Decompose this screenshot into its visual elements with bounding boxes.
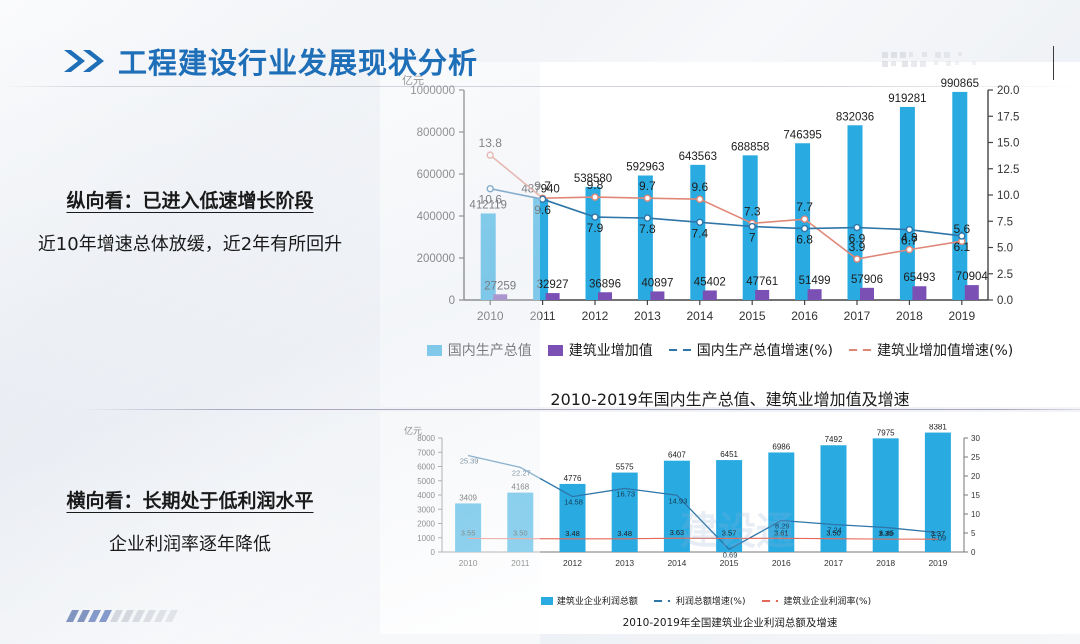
svg-text:2018: 2018 bbox=[896, 309, 923, 323]
svg-text:27259: 27259 bbox=[484, 280, 516, 292]
svg-text:990865: 990865 bbox=[941, 78, 979, 90]
svg-text:0: 0 bbox=[431, 548, 436, 557]
svg-text:643563: 643563 bbox=[679, 151, 717, 163]
top-chart-plot: 020000040000060000080000010000000.02.55.… bbox=[392, 72, 1064, 382]
svg-text:6.7: 6.7 bbox=[901, 234, 918, 248]
mid-divider bbox=[80, 409, 1080, 410]
svg-text:2010: 2010 bbox=[477, 309, 504, 323]
svg-text:7.5: 7.5 bbox=[997, 216, 1013, 228]
svg-text:2014: 2014 bbox=[667, 558, 686, 568]
svg-text:9.6: 9.6 bbox=[534, 203, 551, 217]
bottom-chart-legend: 建筑业企业利润总额利润总额增速(%)建筑业企业利润率(%) bbox=[396, 594, 1032, 607]
svg-text:3.37: 3.37 bbox=[931, 529, 946, 538]
svg-text:8381: 8381 bbox=[929, 424, 947, 432]
legend-item-0[interactable]: 建筑业企业利润总额 bbox=[541, 594, 638, 607]
svg-text:3.50: 3.50 bbox=[513, 529, 528, 538]
svg-text:2017: 2017 bbox=[844, 309, 871, 323]
svg-text:5000: 5000 bbox=[417, 477, 435, 486]
svg-text:13.8: 13.8 bbox=[479, 136, 503, 150]
svg-text:2011: 2011 bbox=[530, 309, 556, 323]
svg-text:45402: 45402 bbox=[694, 276, 726, 288]
legend-label-2: 国内生产总值增速(%) bbox=[697, 340, 833, 360]
svg-text:9.7: 9.7 bbox=[534, 179, 551, 193]
dotted-grid-decoration bbox=[882, 52, 1002, 68]
horizontal-heading: 横向看：长期处于低利润水平 bbox=[0, 486, 380, 513]
svg-text:25: 25 bbox=[971, 453, 980, 462]
page-title: 工程建设行业发展现状分析 bbox=[118, 40, 478, 82]
svg-text:3.50: 3.50 bbox=[826, 529, 841, 538]
svg-text:5.0: 5.0 bbox=[997, 243, 1013, 255]
legend-label-0: 国内生产总值 bbox=[448, 340, 532, 360]
svg-text:9.7: 9.7 bbox=[639, 179, 656, 193]
legend-item-1[interactable]: 建筑业增加值 bbox=[548, 340, 653, 360]
svg-text:4168: 4168 bbox=[511, 483, 529, 492]
svg-text:2015: 2015 bbox=[739, 309, 766, 323]
svg-text:832036: 832036 bbox=[836, 111, 874, 123]
header-divider bbox=[0, 86, 1080, 87]
svg-text:2016: 2016 bbox=[772, 558, 791, 568]
svg-text:47761: 47761 bbox=[746, 276, 778, 288]
svg-text:5: 5 bbox=[971, 529, 976, 538]
svg-text:2013: 2013 bbox=[615, 558, 634, 568]
bottom-chart-plot: 0100020003000400050006000700080000510152… bbox=[396, 424, 1032, 584]
svg-text:919281: 919281 bbox=[888, 93, 926, 105]
svg-text:40897: 40897 bbox=[641, 277, 673, 289]
slide-canvas: 工程建设行业发展现状分析 纵向看：已进入低速增长阶段 近10年增速总体放缓，近2… bbox=[0, 0, 1080, 644]
legend-line-2 bbox=[762, 600, 778, 602]
left-block-horizontal: 横向看：长期处于低利润水平 企业利润率逐年降低 bbox=[0, 486, 380, 556]
legend-label-1: 建筑业增加值 bbox=[569, 340, 653, 360]
svg-text:2014: 2014 bbox=[686, 309, 713, 323]
svg-text:688858: 688858 bbox=[731, 141, 769, 153]
legend-item-2[interactable]: 国内生产总值增速(%) bbox=[669, 340, 833, 360]
legend-item-3[interactable]: 建筑业增加值增速(%) bbox=[849, 340, 1013, 360]
svg-text:32927: 32927 bbox=[537, 279, 569, 291]
svg-text:400000: 400000 bbox=[417, 211, 455, 223]
svg-text:14.93: 14.93 bbox=[669, 496, 688, 505]
legend-label-0: 建筑业企业利润总额 bbox=[557, 594, 638, 607]
svg-text:2015: 2015 bbox=[720, 558, 739, 568]
svg-text:2011: 2011 bbox=[511, 558, 530, 568]
svg-text:1000: 1000 bbox=[417, 534, 435, 543]
top-chart-caption: 2010-2019年国内生产总值、建筑业增加值及增速 bbox=[380, 386, 1080, 410]
svg-text:20: 20 bbox=[971, 472, 980, 481]
diagonal-stripes-decoration bbox=[62, 610, 180, 622]
legend-label-2: 建筑业企业利润率(%) bbox=[784, 594, 872, 607]
svg-text:17.5: 17.5 bbox=[997, 111, 1019, 123]
legend-line-1 bbox=[654, 600, 670, 602]
svg-text:2012: 2012 bbox=[563, 558, 582, 568]
svg-text:2016: 2016 bbox=[791, 309, 818, 323]
svg-text:800000: 800000 bbox=[417, 127, 455, 139]
svg-text:9.8: 9.8 bbox=[587, 178, 604, 192]
legend-line-3 bbox=[849, 349, 871, 351]
svg-text:7000: 7000 bbox=[417, 448, 435, 457]
svg-text:3.55: 3.55 bbox=[461, 529, 476, 538]
svg-text:15: 15 bbox=[971, 491, 980, 500]
svg-text:0.0: 0.0 bbox=[997, 295, 1013, 307]
svg-text:7975: 7975 bbox=[877, 428, 895, 437]
svg-text:65493: 65493 bbox=[903, 272, 935, 284]
svg-text:10.0: 10.0 bbox=[997, 190, 1019, 202]
svg-text:200000: 200000 bbox=[417, 253, 455, 265]
svg-text:7.7: 7.7 bbox=[796, 200, 813, 214]
legend-swatch-0 bbox=[541, 597, 553, 605]
svg-text:0: 0 bbox=[449, 295, 455, 307]
svg-text:2.5: 2.5 bbox=[997, 269, 1013, 281]
svg-text:0.69: 0.69 bbox=[723, 550, 738, 559]
legend-label-1: 利润总额增速(%) bbox=[676, 594, 746, 607]
svg-text:25.39: 25.39 bbox=[460, 457, 479, 466]
svg-text:6.9: 6.9 bbox=[849, 232, 866, 246]
svg-text:3.57: 3.57 bbox=[722, 528, 737, 537]
legend-swatch-1 bbox=[548, 345, 563, 356]
legend-line-2 bbox=[669, 349, 691, 351]
svg-text:36896: 36896 bbox=[589, 278, 621, 290]
svg-text:2019: 2019 bbox=[928, 558, 947, 568]
svg-text:2018: 2018 bbox=[876, 558, 895, 568]
svg-text:2017: 2017 bbox=[824, 558, 843, 568]
svg-text:600000: 600000 bbox=[417, 169, 455, 181]
svg-text:30: 30 bbox=[971, 434, 980, 443]
svg-text:7492: 7492 bbox=[825, 435, 843, 444]
svg-text:7.9: 7.9 bbox=[587, 221, 604, 235]
legend-item-0[interactable]: 国内生产总值 bbox=[427, 340, 532, 360]
svg-text:10.6: 10.6 bbox=[479, 193, 503, 207]
svg-text:6.1: 6.1 bbox=[953, 240, 970, 254]
svg-text:2012: 2012 bbox=[582, 309, 609, 323]
svg-text:0: 0 bbox=[971, 548, 976, 557]
double-chevron-right-icon bbox=[62, 48, 108, 74]
construction-profit-chart: 亿元 0100020003000400050006000700080000510… bbox=[396, 424, 1032, 584]
svg-text:2000: 2000 bbox=[417, 520, 435, 529]
svg-text:3.39: 3.39 bbox=[878, 529, 893, 538]
svg-text:70904: 70904 bbox=[956, 271, 989, 283]
svg-text:22.27: 22.27 bbox=[512, 468, 531, 477]
svg-text:3.61: 3.61 bbox=[774, 528, 789, 537]
header-right-rule bbox=[1053, 46, 1054, 80]
svg-text:7.8: 7.8 bbox=[639, 222, 656, 236]
svg-text:16.73: 16.73 bbox=[616, 489, 635, 498]
svg-text:2013: 2013 bbox=[634, 309, 661, 323]
legend-item-2[interactable]: 建筑业企业利润率(%) bbox=[762, 594, 872, 607]
svg-text:7.3: 7.3 bbox=[744, 204, 761, 218]
legend-item-1[interactable]: 利润总额增速(%) bbox=[654, 594, 746, 607]
left-block-vertical: 纵向看：已进入低速增长阶段 近10年增速总体放缓，近2年有所回升 bbox=[0, 186, 380, 256]
svg-text:6986: 6986 bbox=[772, 442, 790, 451]
svg-text:3.63: 3.63 bbox=[670, 528, 685, 537]
horizontal-subtext: 企业利润率逐年降低 bbox=[0, 530, 380, 556]
svg-text:3.48: 3.48 bbox=[565, 529, 580, 538]
vertical-heading: 纵向看：已进入低速增长阶段 bbox=[0, 186, 380, 213]
svg-text:3409: 3409 bbox=[459, 493, 477, 502]
vertical-subtext: 近10年增速总体放缓，近2年有所回升 bbox=[0, 230, 380, 256]
svg-text:14.58: 14.58 bbox=[564, 498, 583, 507]
legend-swatch-0 bbox=[427, 345, 442, 356]
svg-text:6000: 6000 bbox=[417, 463, 435, 472]
svg-text:3.48: 3.48 bbox=[617, 529, 632, 538]
svg-text:7.4: 7.4 bbox=[691, 226, 708, 240]
svg-text:4000: 4000 bbox=[417, 491, 435, 500]
svg-text:592963: 592963 bbox=[626, 161, 664, 173]
bottom-chart-caption: 2010-2019年全国建筑业企业利润总额及增速 bbox=[380, 615, 1080, 630]
svg-text:6.8: 6.8 bbox=[796, 233, 813, 247]
slide-header: 工程建设行业发展现状分析 bbox=[0, 18, 1080, 70]
svg-text:10: 10 bbox=[971, 510, 980, 519]
svg-text:2010: 2010 bbox=[459, 558, 478, 568]
svg-text:7: 7 bbox=[749, 231, 756, 245]
top-chart-legend: 国内生产总值建筑业增加值国内生产总值增速(%)建筑业增加值增速(%) bbox=[392, 340, 1064, 360]
svg-text:6407: 6407 bbox=[668, 451, 686, 460]
svg-text:4776: 4776 bbox=[564, 474, 582, 483]
svg-text:6451: 6451 bbox=[720, 450, 738, 459]
svg-text:9.6: 9.6 bbox=[691, 180, 708, 194]
gdp-construction-chart: 亿元 020000040000060000080000010000000.02.… bbox=[392, 72, 1064, 382]
svg-text:51499: 51499 bbox=[799, 275, 831, 287]
legend-label-3: 建筑业增加值增速(%) bbox=[877, 340, 1013, 360]
svg-text:5575: 5575 bbox=[616, 463, 634, 472]
svg-text:12.5: 12.5 bbox=[997, 164, 1019, 176]
svg-text:746395: 746395 bbox=[783, 129, 821, 141]
svg-text:3000: 3000 bbox=[417, 505, 435, 514]
svg-text:8000: 8000 bbox=[417, 434, 435, 443]
svg-text:15.0: 15.0 bbox=[997, 138, 1019, 150]
svg-text:2019: 2019 bbox=[948, 309, 975, 323]
svg-text:57906: 57906 bbox=[851, 274, 883, 286]
